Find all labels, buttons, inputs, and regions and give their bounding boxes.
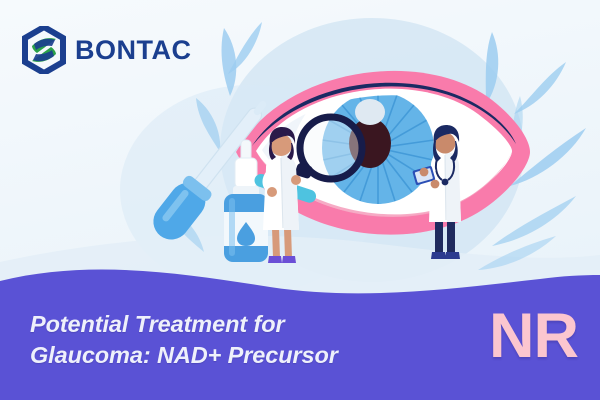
stethoscope-bell: [442, 179, 449, 186]
headline-line-2: Glaucoma: NAD+ Precursor: [30, 340, 338, 371]
brand-logo[interactable]: BONTAC: [22, 26, 191, 74]
eye-drop-bottle: [224, 140, 268, 262]
doctor-hand-front: [267, 187, 277, 197]
doctor2-hand-right: [431, 180, 440, 189]
doctor-with-magnifier: [263, 127, 301, 263]
headline-line-1: Potential Treatment for: [30, 311, 285, 337]
doctor-left-leg: [272, 228, 280, 258]
brand-wordmark: BONTAC: [75, 37, 191, 64]
bottle-shine: [229, 198, 235, 256]
poster-headline: Potential Treatment for Glaucoma: NAD+ P…: [30, 309, 338, 370]
doctor2-hand-left: [420, 168, 429, 177]
bontac-hexagon-leaf-logo: [22, 26, 66, 74]
acronym-nr: NR: [489, 305, 578, 374]
doctor2-left-leg: [435, 218, 443, 254]
doctor2-right-leg: [447, 218, 455, 254]
doctor-hand-back: [291, 175, 301, 185]
poster-canvas: BONTAC Potential Treatment for Glaucoma:…: [0, 0, 600, 400]
title-banner: Potential Treatment for Glaucoma: NAD+ P…: [0, 255, 600, 400]
doctor-right-leg: [284, 228, 292, 258]
bottle-cap: [235, 158, 257, 188]
logo-hexagon-outline: [25, 27, 63, 73]
doctor-with-clipboard: [412, 125, 461, 259]
doctor-coat-shade: [281, 155, 299, 230]
